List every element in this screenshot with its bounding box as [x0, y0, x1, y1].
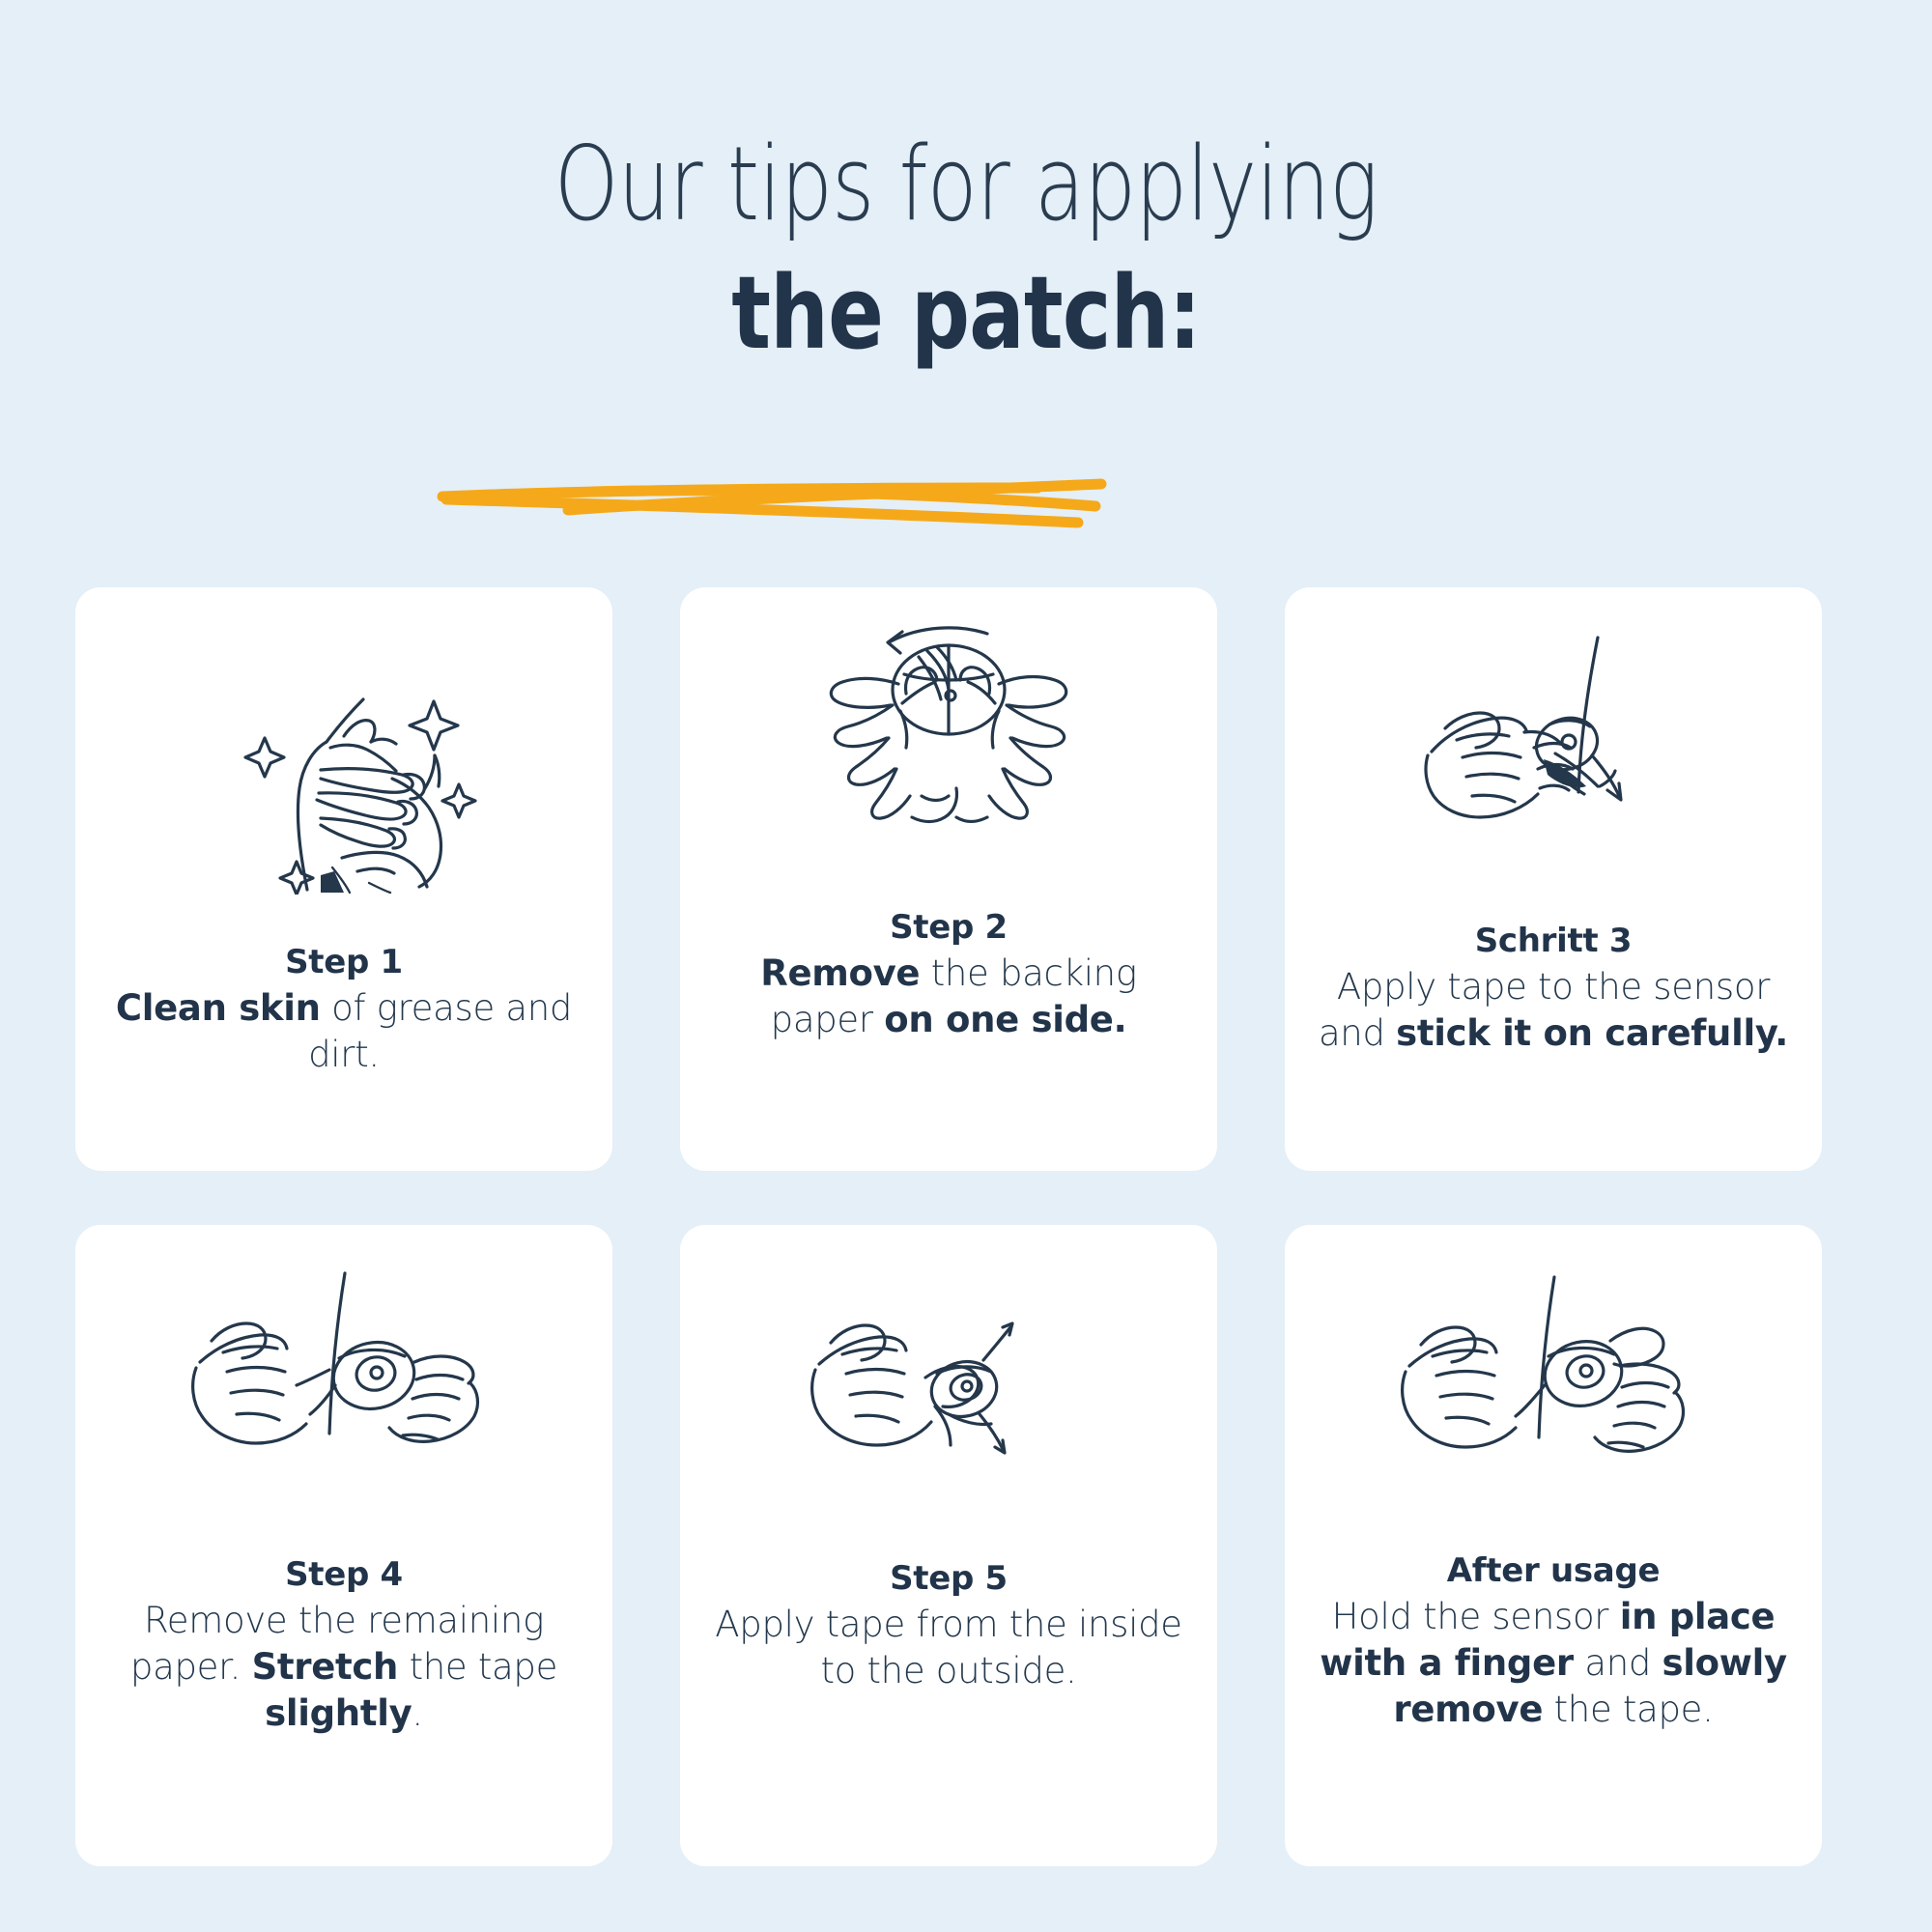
step-body-3: Apply tape to the sensor and stick it on…	[1319, 966, 1788, 1054]
step-body-5: Apply tape from the inside to the outsid…	[715, 1604, 1182, 1691]
step-body-4: Remove the remaining paper. Stretch the …	[130, 1600, 557, 1734]
step-label-5: Step 5	[705, 1557, 1192, 1600]
step-caption-4: Step 4 Remove the remaining paper. Stret…	[75, 1553, 612, 1737]
step-label-6: After usage	[1310, 1549, 1797, 1592]
step-caption-3: Schritt 3 Apply tape to the sensor and s…	[1285, 920, 1822, 1057]
step-card-4[interactable]: Step 4 Remove the remaining paper. Stret…	[75, 1225, 612, 1866]
step-card-5[interactable]: Step 5 Apply tape from the inside to the…	[680, 1225, 1217, 1866]
squiggle-underline-icon	[425, 449, 1121, 541]
two-hands-peeling-backing-paper-icon	[680, 587, 1217, 871]
step-label-2: Step 2	[705, 906, 1192, 949]
step-caption-6: After usage Hold the sensor in place wit…	[1285, 1549, 1822, 1733]
step-body-1: Clean skin of grease and dirt.	[116, 987, 572, 1075]
page-header: Our tips for applying the patch:	[0, 128, 1932, 370]
hand-smoothing-tape-outward-arrows-icon	[680, 1225, 1217, 1507]
step-label-1: Step 1	[100, 941, 587, 983]
step-card-2[interactable]: Step 2 Remove the backing paper on one s…	[680, 587, 1217, 1171]
step-card-6[interactable]: After usage Hold the sensor in place wit…	[1285, 1225, 1822, 1866]
step-caption-1: Step 1 Clean skin of grease and dirt.	[75, 941, 612, 1078]
page-title-line-2: the patch:	[174, 256, 1758, 371]
step-card-3[interactable]: Schritt 3 Apply tape to the sensor and s…	[1285, 587, 1822, 1171]
hands-washing-with-sparkles-icon	[75, 587, 612, 895]
step-label-4: Step 4	[100, 1553, 587, 1596]
step-body-2: Remove the backing paper on one side.	[760, 952, 1137, 1040]
step-caption-5: Step 5 Apply tape from the inside to the…	[680, 1557, 1217, 1694]
hand-holding-sensor-while-removing-tape-icon	[1285, 1225, 1822, 1515]
hand-removing-remaining-paper-icon	[75, 1225, 612, 1511]
page-title-line-1: Our tips for applying	[193, 128, 1739, 242]
step-label-3: Schritt 3	[1310, 920, 1797, 962]
step-caption-2: Step 2 Remove the backing paper on one s…	[680, 906, 1217, 1043]
step-card-1[interactable]: Step 1 Clean skin of grease and dirt.	[75, 587, 612, 1171]
poster-root: Our tips for applying the patch:	[0, 0, 1932, 1932]
steps-grid: Step 1 Clean skin of grease and dirt.	[75, 587, 1861, 1866]
step-body-6: Hold the sensor in place with a finger a…	[1320, 1596, 1787, 1730]
hand-applying-tape-to-sensor-icon	[1285, 587, 1822, 873]
